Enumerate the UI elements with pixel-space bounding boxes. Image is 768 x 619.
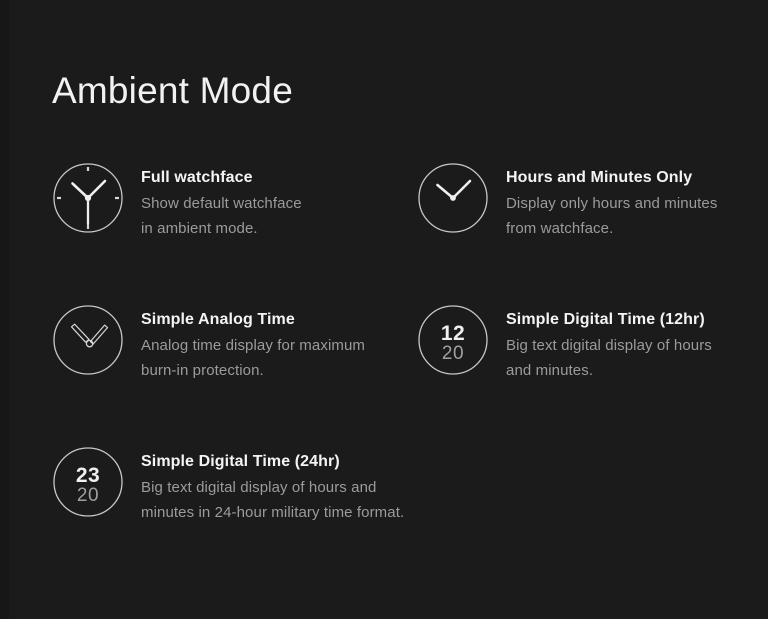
option-title: Simple Digital Time (12hr) bbox=[506, 310, 712, 330]
clock-full-watchface-icon bbox=[52, 162, 124, 234]
option-description: Big text digital display of hours and mi… bbox=[506, 333, 712, 383]
option-item-full-watchface[interactable]: Full watchface Show default watchface in… bbox=[52, 162, 302, 241]
option-description: Show default watchface in ambient mode. bbox=[141, 191, 302, 241]
option-title: Full watchface bbox=[141, 168, 302, 188]
option-item-hours-and-minutes-only[interactable]: Hours and Minutes Only Display only hour… bbox=[417, 162, 717, 241]
option-text-simple-digital-time-12hr: Simple Digital Time (12hr) Big text digi… bbox=[506, 304, 712, 383]
clock-digital-12hr-icon: 12 20 bbox=[417, 304, 489, 376]
option-text-hours-and-minutes-only: Hours and Minutes Only Display only hour… bbox=[506, 162, 717, 241]
digital-hours-value: 12 bbox=[441, 322, 465, 345]
option-item-simple-analog-time[interactable]: Simple Analog Time Analog time display f… bbox=[52, 304, 365, 383]
clock-simple-analog-icon bbox=[52, 304, 124, 376]
option-title: Hours and Minutes Only bbox=[506, 168, 717, 188]
clock-hours-minutes-icon bbox=[417, 162, 489, 234]
left-edge-shade bbox=[0, 0, 9, 619]
option-description: Display only hours and minutes from watc… bbox=[506, 191, 717, 241]
option-text-simple-digital-time-24hr: Simple Digital Time (24hr) Big text digi… bbox=[141, 446, 404, 525]
clock-digital-24hr-icon: 23 20 bbox=[52, 446, 124, 518]
option-title: Simple Digital Time (24hr) bbox=[141, 452, 404, 472]
option-item-simple-digital-time-24hr[interactable]: 23 20 Simple Digital Time (24hr) Big tex… bbox=[52, 446, 404, 525]
option-item-simple-digital-time-12hr[interactable]: 12 20 Simple Digital Time (12hr) Big tex… bbox=[417, 304, 712, 383]
option-description: Big text digital display of hours and mi… bbox=[141, 475, 404, 525]
digital-hours-value: 23 bbox=[76, 464, 100, 487]
option-text-simple-analog-time: Simple Analog Time Analog time display f… bbox=[141, 304, 365, 383]
option-title: Simple Analog Time bbox=[141, 310, 365, 330]
digital-minutes-value: 20 bbox=[77, 485, 99, 506]
digital-minutes-value: 20 bbox=[442, 343, 464, 364]
page-title: Ambient Mode bbox=[52, 71, 293, 112]
option-text-full-watchface: Full watchface Show default watchface in… bbox=[141, 162, 302, 241]
option-description: Analog time display for maximum burn-in … bbox=[141, 333, 365, 383]
